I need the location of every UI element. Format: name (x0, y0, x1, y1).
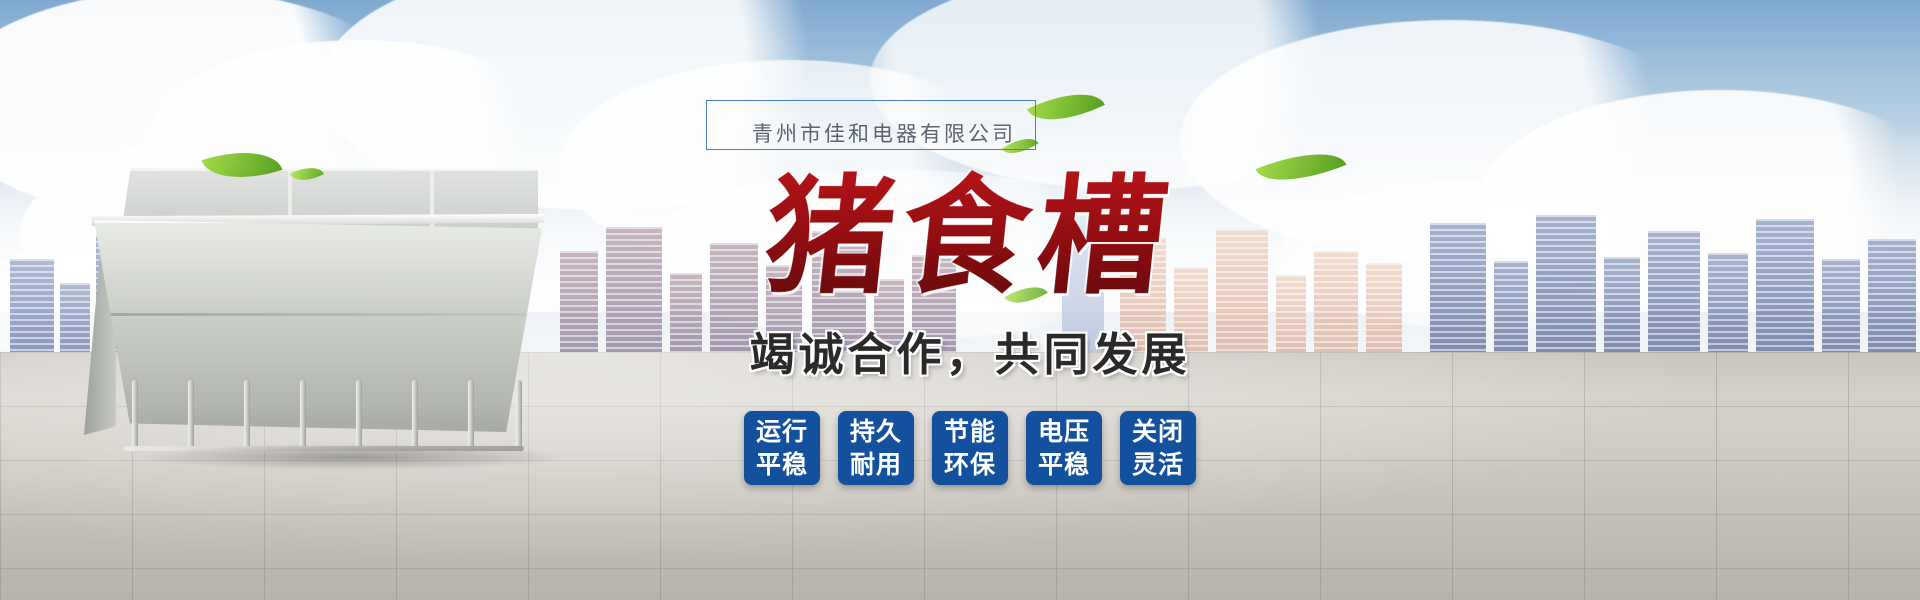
badge-line-1: 持久 (850, 415, 902, 448)
product-image-pig-feeding-trough (78, 158, 548, 458)
feature-badge[interactable]: 运行 平稳 (744, 411, 820, 485)
badge-line-1: 节能 (944, 415, 996, 448)
badge-line-1: 运行 (756, 415, 808, 448)
company-name: 青州市佳和电器有限公司 (752, 118, 1016, 148)
feature-badge[interactable]: 节能 环保 (932, 411, 1008, 485)
badge-line-2: 环保 (944, 448, 996, 481)
badge-line-1: 电压 (1038, 415, 1090, 448)
badge-line-2: 平稳 (1038, 448, 1090, 481)
banner-subtitle: 竭诚合作，共同发展 (690, 318, 1250, 383)
badge-line-2: 灵活 (1132, 448, 1184, 481)
trough-weld-seam (94, 313, 542, 316)
promotional-banner: 青州市佳和电器有限公司 猪食槽 竭诚合作，共同发展 运行 平稳 持久 耐用 节能… (0, 0, 1920, 600)
feature-badge[interactable]: 电压 平稳 (1026, 411, 1102, 485)
company-name-row: 青州市佳和电器有限公司 (690, 96, 1250, 158)
badge-line-1: 关闭 (1132, 415, 1184, 448)
feature-badge[interactable]: 持久 耐用 (838, 411, 914, 485)
badge-line-2: 平稳 (756, 448, 808, 481)
product-ground-shadow (138, 444, 568, 470)
trough-divider-bars (124, 380, 524, 452)
feature-badge-list: 运行 平稳 持久 耐用 节能 环保 电压 平稳 关闭 灵活 (690, 411, 1250, 485)
feature-badge[interactable]: 关闭 灵活 (1120, 411, 1196, 485)
badge-line-2: 耐用 (850, 448, 902, 481)
banner-copy-block: 青州市佳和电器有限公司 猪食槽 竭诚合作，共同发展 运行 平稳 持久 耐用 节能… (690, 96, 1250, 485)
page-title: 猪食槽 (682, 162, 1258, 312)
